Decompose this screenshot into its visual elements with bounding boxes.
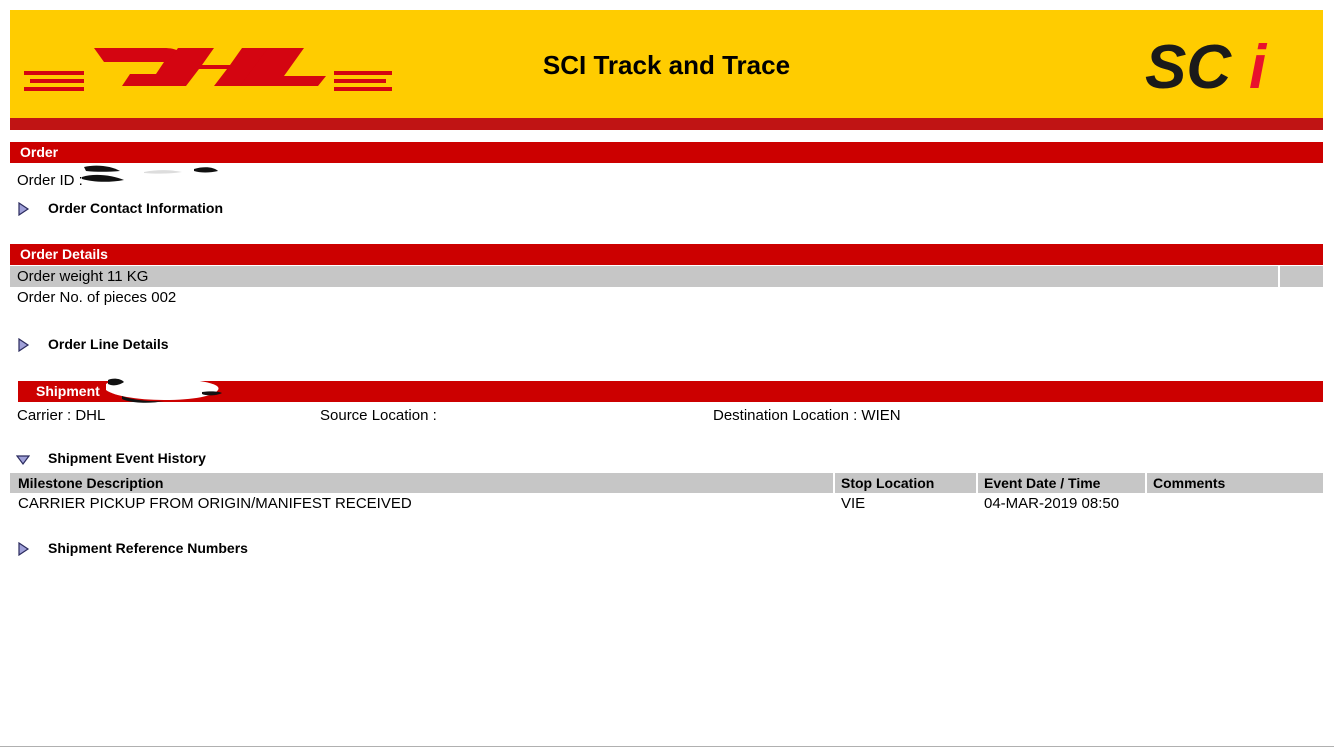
expander-shipment-event-history-label: Shipment Event History xyxy=(48,450,206,466)
order-pieces-cell: Order No. of pieces 002 xyxy=(17,287,176,308)
expander-shipment-reference-numbers-label: Shipment Reference Numbers xyxy=(48,540,248,556)
table-row: CARRIER PICKUP FROM ORIGIN/MANIFEST RECE… xyxy=(10,493,1323,515)
shipment-destination-location: Destination Location : WIEN xyxy=(713,407,901,424)
order-id-label: Order ID : xyxy=(17,172,83,189)
column-header-comments: Comments xyxy=(1153,473,1323,493)
sci-logo-accent-text: i xyxy=(1249,33,1268,102)
column-divider xyxy=(1278,266,1280,287)
cell-stop-location: VIE xyxy=(841,493,981,515)
table-header-row: Milestone Description Stop Location Even… xyxy=(10,473,1323,493)
triangle-right-icon xyxy=(16,338,30,352)
shipment-source-location: Source Location : xyxy=(320,407,437,424)
column-divider xyxy=(833,473,835,493)
section-header-order-details-label: Order Details xyxy=(10,244,108,265)
page-root: SCI Track and Trace SC i Order Order ID … xyxy=(0,0,1334,750)
table-row: Order weight 11 KG xyxy=(10,266,1323,287)
shipment-carrier: Carrier : DHL xyxy=(17,407,105,424)
order-weight-cell: Order weight 11 KG xyxy=(17,266,148,287)
column-header-milestone-description: Milestone Description xyxy=(18,473,828,493)
expander-order-contact-information[interactable]: Order Contact Information xyxy=(16,200,436,218)
sci-logo-dark-text: SC xyxy=(1145,33,1232,102)
section-header-order-details: Order Details xyxy=(10,244,1323,265)
expander-shipment-reference-numbers[interactable]: Shipment Reference Numbers xyxy=(16,540,436,558)
section-header-order: Order xyxy=(10,142,1323,163)
section-header-order-label: Order xyxy=(10,142,58,163)
shipment-event-history-table: Milestone Description Stop Location Even… xyxy=(10,473,1323,515)
column-header-event-date-time: Event Date / Time xyxy=(984,473,1149,493)
column-divider xyxy=(976,473,978,493)
triangle-down-icon xyxy=(16,452,30,466)
page-bottom-divider xyxy=(0,746,1334,747)
triangle-right-icon xyxy=(16,542,30,556)
section-header-shipment-label: Shipment xyxy=(18,381,100,402)
section-header-shipment: Shipment xyxy=(18,381,1323,402)
column-divider xyxy=(1145,473,1147,493)
redaction-mark-order-id xyxy=(78,163,238,191)
header-red-strip xyxy=(10,118,1323,130)
order-id-field: Order ID : xyxy=(17,172,83,189)
order-details-table: Order weight 11 KG Order No. of pieces 0… xyxy=(10,266,1323,308)
sci-logo: SC i xyxy=(1137,26,1307,106)
triangle-right-icon xyxy=(16,202,30,216)
cell-milestone-description: CARRIER PICKUP FROM ORIGIN/MANIFEST RECE… xyxy=(18,493,828,515)
header-banner: SCI Track and Trace SC i xyxy=(10,10,1323,118)
page-title: SCI Track and Trace xyxy=(10,50,1323,81)
expander-order-contact-information-label: Order Contact Information xyxy=(48,200,223,216)
column-header-stop-location: Stop Location xyxy=(841,473,981,493)
expander-order-line-details-label: Order Line Details xyxy=(48,336,169,352)
expander-shipment-event-history[interactable]: Shipment Event History xyxy=(16,450,436,468)
table-row: Order No. of pieces 002 xyxy=(10,287,1323,308)
cell-event-date-time: 04-MAR-2019 08:50 xyxy=(984,493,1149,515)
expander-order-line-details[interactable]: Order Line Details xyxy=(16,336,436,354)
